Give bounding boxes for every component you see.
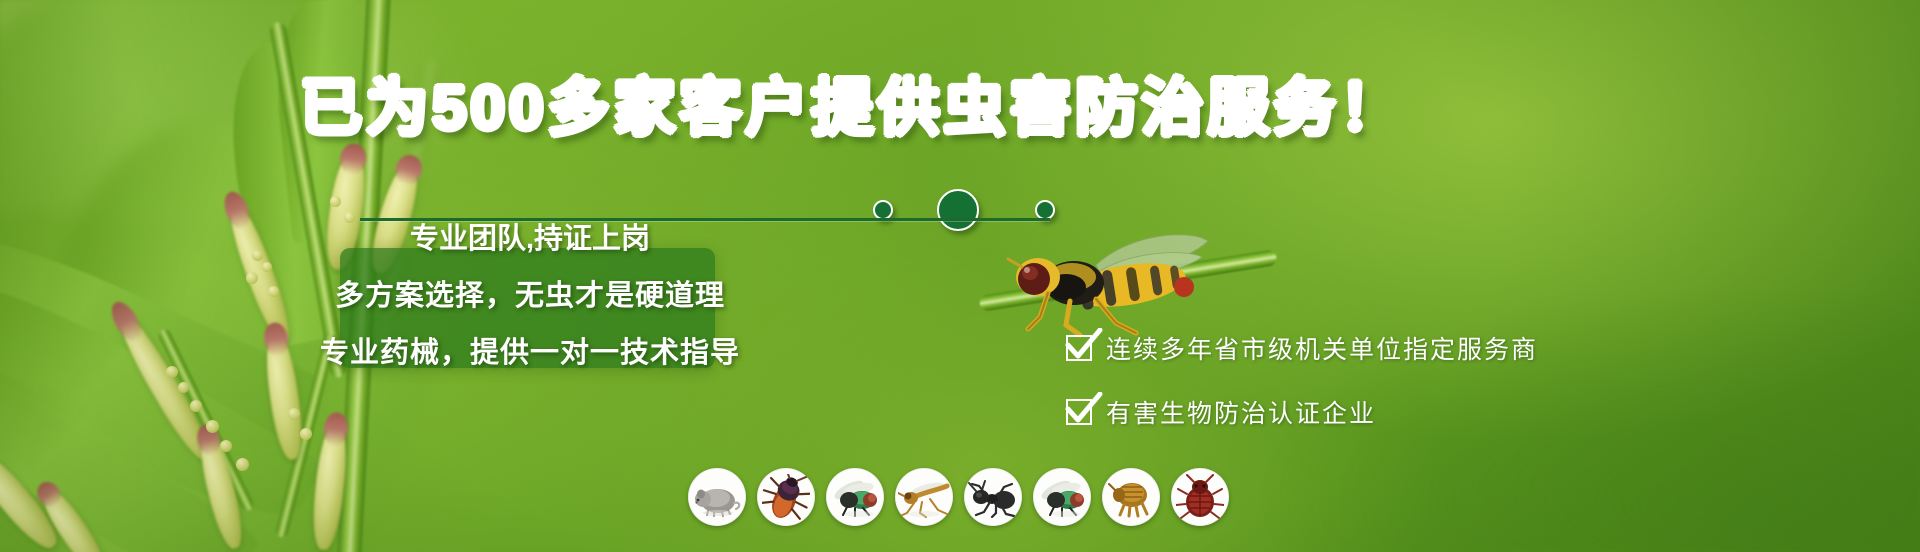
checklist-item: 连续多年省市级机关单位指定服务商: [1066, 330, 1538, 366]
mouse-icon[interactable]: [688, 468, 746, 526]
page-title-text: 已为500多家客户提供虫害防治服务！: [300, 74, 1405, 143]
pest-icon-row: [688, 468, 1229, 526]
bedbug-icon[interactable]: [1171, 468, 1229, 526]
pest-control-banner: 已为500多家客户提供虫害防治服务！ 专业团队,持证上岗 多方案选择，无虫才是硬…: [0, 0, 1920, 552]
checkmark-icon: [1066, 335, 1092, 361]
checklist-item-label: 有害生物防治认证企业: [1106, 394, 1376, 430]
flea-icon[interactable]: [1102, 468, 1160, 526]
housefly-icon[interactable]: [1033, 468, 1091, 526]
decorative-dot-small-right: [1035, 200, 1055, 220]
decorative-dot-large-center: [937, 189, 979, 231]
feature-line-2: 多方案选择，无虫才是硬道理: [335, 272, 725, 314]
checkmark-icon: [1066, 399, 1092, 425]
feature-line-1: 专业团队,持证上岗: [410, 215, 650, 257]
cockroach-icon[interactable]: [757, 468, 815, 526]
certification-checklist: 连续多年省市级机关单位指定服务商 有害生物防治认证企业: [1066, 330, 1538, 430]
page-title: 已为500多家客户提供虫害防治服务！: [300, 78, 1405, 140]
checklist-item-label: 连续多年省市级机关单位指定服务商: [1106, 330, 1538, 366]
decorative-dot-small-left: [873, 200, 893, 220]
blowfly-icon[interactable]: [826, 468, 884, 526]
ant-icon[interactable]: [964, 468, 1022, 526]
mosquito-icon[interactable]: [895, 468, 953, 526]
checklist-item: 有害生物防治认证企业: [1066, 394, 1538, 430]
feature-line-3: 专业药械，提供一对一技术指导: [320, 329, 740, 371]
feature-panel-text: 专业团队,持证上岗 多方案选择，无虫才是硬道理 专业药械，提供一对一技术指导: [330, 215, 730, 371]
